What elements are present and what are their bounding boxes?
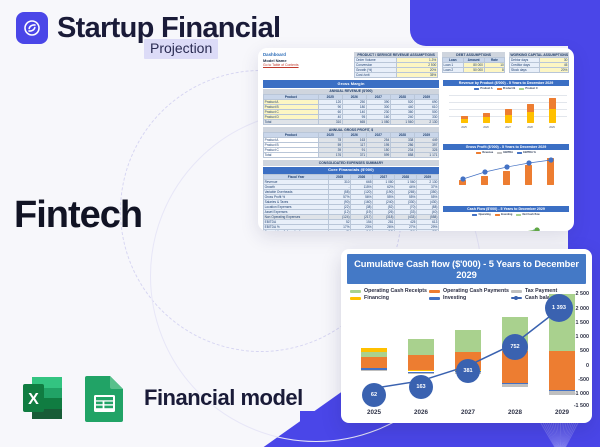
chart-bars: 62 163 381 752 1 393 xyxy=(355,291,558,407)
table-row: Depreciation & Amortisation(9)(14)(19)(2… xyxy=(264,229,439,231)
category-label: Fintech xyxy=(14,194,142,237)
dashboard-thumbnail-content: Dashboard Model Name Go to Table of Cont… xyxy=(258,48,574,231)
bar-segment-receipts xyxy=(455,330,481,353)
bar-segment-tax xyxy=(502,384,528,387)
table-row: Stock days20% xyxy=(510,68,569,73)
dashboard-toc-link[interactable]: Go to Table of Contents xyxy=(263,63,350,68)
cash-flow-mini-chart[interactable]: Cash Flow ($'000) - 5 Years to December … xyxy=(443,206,569,231)
revenue-by-product-chart[interactable]: Revenue by Product ($'000) - 5 Years to … xyxy=(443,80,569,142)
mini-trend-line xyxy=(443,217,569,231)
core-financials-bar: Core Financials ($'000) xyxy=(263,167,439,174)
table-row: Cost /unit35% xyxy=(355,73,437,78)
mini-chart-plot: 2025 2026 2027 xyxy=(443,217,569,231)
data-point-2029[interactable]: 1 393 xyxy=(546,295,572,321)
panel-caption-assumptions: PRODUCT / SERVICE REVENUE ASSUMPTIONS xyxy=(354,52,437,57)
bar-segment-receipts xyxy=(408,339,434,355)
table-row: Total3106651 0801 5602 130 xyxy=(264,119,439,124)
bar-segment-tax xyxy=(549,391,575,395)
mini-chart-plot: 2025 2026 2027 2028 2029 xyxy=(443,91,569,129)
google-sheets-icon xyxy=(82,372,128,424)
gross-margin-bar: Gross Margin xyxy=(263,80,439,87)
bar-segment-payments xyxy=(361,357,387,368)
table-row: Loan 250 0008 xyxy=(442,68,505,73)
spiral-logo-icon xyxy=(16,12,48,44)
financial-model-label: Financial model xyxy=(144,385,303,411)
bar-segment-tax xyxy=(408,373,434,374)
gross-profit-chart[interactable]: Gross Profit ($'000) - 5 Years to Decemb… xyxy=(443,144,569,204)
chart-plot-area: 2 500 2 000 1 500 1 000 500 0 -500 -1 00… xyxy=(341,291,592,423)
data-point-2025[interactable]: 62 xyxy=(363,384,385,406)
mini-chart-plot xyxy=(443,155,569,191)
format-icons-row: X Financial model xyxy=(18,372,303,424)
bar-segment-payments xyxy=(549,351,575,389)
projection-badge: Projection xyxy=(144,39,218,59)
chart-title: Cumulative Cash flow ($'000) - 5 Years t… xyxy=(347,254,586,284)
bar-segment-payments xyxy=(408,355,434,370)
data-point-2027[interactable]: 381 xyxy=(457,360,479,382)
assumptions-table: Order Volume1.3% Conversion2 500 Growth … xyxy=(354,57,437,78)
data-point-2028[interactable]: 752 xyxy=(503,335,527,359)
annual-revenue-table: Product20252026 202720282029 Product A12… xyxy=(263,94,439,125)
working-capital-table: Debtor days30 Creditor days45 Stock days… xyxy=(509,57,569,73)
gross-profit-table: Product20252026 202720282029 Product A78… xyxy=(263,132,439,158)
core-financials-table: Fiscal Year20252026 202720282029 Revenue… xyxy=(263,174,439,231)
data-point-2026[interactable]: 163 xyxy=(410,376,432,398)
svg-text:X: X xyxy=(28,391,39,408)
bar-group-2027[interactable] xyxy=(455,291,481,407)
opex-caption: CONSOLIDATED EXPENSES SUMMARY xyxy=(263,160,439,165)
table-row: LoanAmountRate xyxy=(442,58,505,63)
cumulative-cash-flow-chart-card[interactable]: Cumulative Cash flow ($'000) - 5 Years t… xyxy=(341,249,592,423)
bar-segment-tax xyxy=(361,370,387,371)
dashboard-thumbnail-card[interactable]: Dashboard Model Name Go to Table of Cont… xyxy=(258,48,574,231)
excel-icon: X xyxy=(18,372,70,424)
debt-table: LoanAmountRate Loan 180 00010 Loan 250 0… xyxy=(442,57,506,73)
table-row: Total1763715998581 171 xyxy=(264,153,439,158)
x-axis: 2025 2026 2027 2028 2029 xyxy=(355,409,558,422)
poster-root: Startup Financial Projection Fintech X xyxy=(0,0,600,447)
panel-caption-wc: WORKING CAPITAL ASSUMPTIONS xyxy=(509,52,569,57)
